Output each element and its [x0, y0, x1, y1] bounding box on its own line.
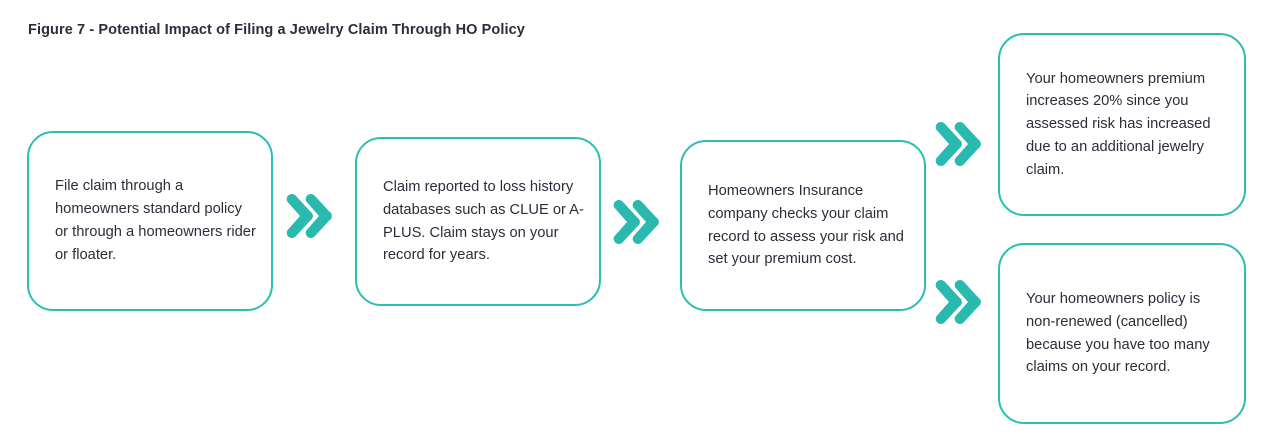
flow-outcome-premium-increase-label: Your homeowners premium increases 20% si…: [1000, 68, 1244, 182]
flow-outcome-policy-non-renewed: Your homeowners policy is non-renewed (c…: [998, 243, 1246, 424]
flow-step-insurer-checks-record-label: Homeowners Insurance company checks your…: [682, 180, 924, 271]
flow-step-claim-reported: Claim reported to loss history databases…: [355, 137, 601, 306]
double-chevron-right-icon: [284, 191, 332, 241]
flow-step-claim-reported-label: Claim reported to loss history databases…: [357, 176, 599, 267]
figure-canvas: Figure 7 - Potential Impact of Filing a …: [0, 0, 1280, 442]
double-chevron-right-icon: [933, 277, 981, 327]
flow-step-file-claim-label: File claim through a homeowners standard…: [29, 175, 271, 266]
flow-step-insurer-checks-record: Homeowners Insurance company checks your…: [680, 140, 926, 311]
flow-step-file-claim: File claim through a homeowners standard…: [27, 131, 273, 311]
flow-outcome-policy-non-renewed-label: Your homeowners policy is non-renewed (c…: [1000, 288, 1244, 379]
flow-outcome-premium-increase: Your homeowners premium increases 20% si…: [998, 33, 1246, 216]
figure-title: Figure 7 - Potential Impact of Filing a …: [28, 22, 525, 38]
double-chevron-right-icon: [611, 197, 659, 247]
double-chevron-right-icon: [933, 119, 981, 169]
